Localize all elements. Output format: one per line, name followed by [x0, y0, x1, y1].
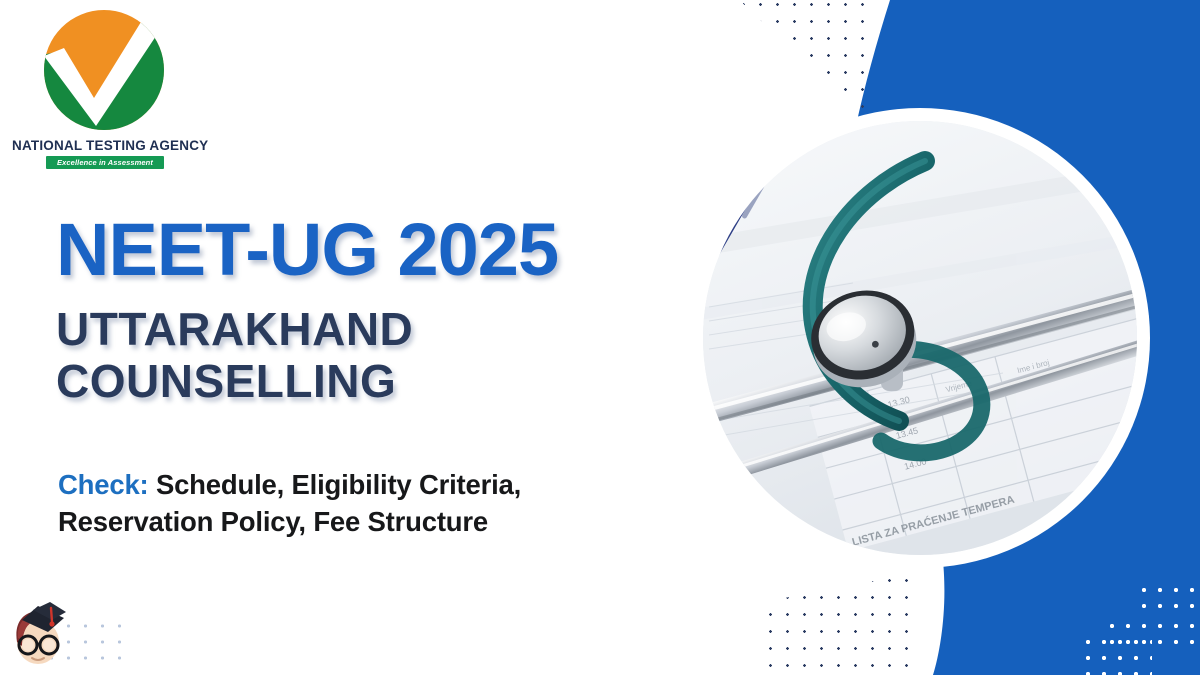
nta-logo-tagline: Excellence in Assessment — [46, 156, 164, 169]
graduate-mascot-icon — [8, 598, 70, 666]
page-subtitle-line-1: UTTARAKHAND — [56, 303, 676, 355]
dot-pattern-bottom-right-a-icon — [1136, 582, 1200, 618]
hero-photo-ring: 13.30 13.45 14.00 Vrijeme Ime i broj LIS… — [690, 108, 1150, 568]
stethoscope-photo: 13.30 13.45 14.00 Vrijeme Ime i broj LIS… — [703, 121, 1137, 555]
dot-pattern-bottom-left-icon — [762, 572, 922, 675]
nta-logo-name: NATIONAL TESTING AGENCY — [12, 138, 198, 153]
check-topics-text: Check: Schedule, Eligibility Criteria, R… — [58, 466, 678, 541]
neet-counselling-banner: 13.30 13.45 14.00 Vrijeme Ime i broj LIS… — [0, 0, 1200, 675]
check-line-2: Reservation Policy, Fee Structure — [58, 503, 678, 540]
page-title: NEET-UG 2025 — [56, 214, 676, 285]
check-label: Check: — [58, 469, 149, 500]
check-line-1: Schedule, Eligibility Criteria, — [149, 469, 522, 500]
nta-logo: NATIONAL TESTING AGENCY Excellence in As… — [12, 8, 198, 168]
collegedunia-logo[interactable]: collegedunia .com — [8, 596, 348, 668]
dot-pattern-top-icon — [735, 0, 865, 118]
page-subtitle: UTTARAKHAND COUNSELLING — [56, 303, 676, 408]
nta-checkmark-circle-icon — [30, 8, 178, 136]
headline-block: NEET-UG 2025 UTTARAKHAND COUNSELLING — [56, 214, 676, 408]
page-subtitle-line-2: COUNSELLING — [56, 355, 676, 407]
dot-pattern-bottom-right-c-icon — [1080, 634, 1152, 675]
